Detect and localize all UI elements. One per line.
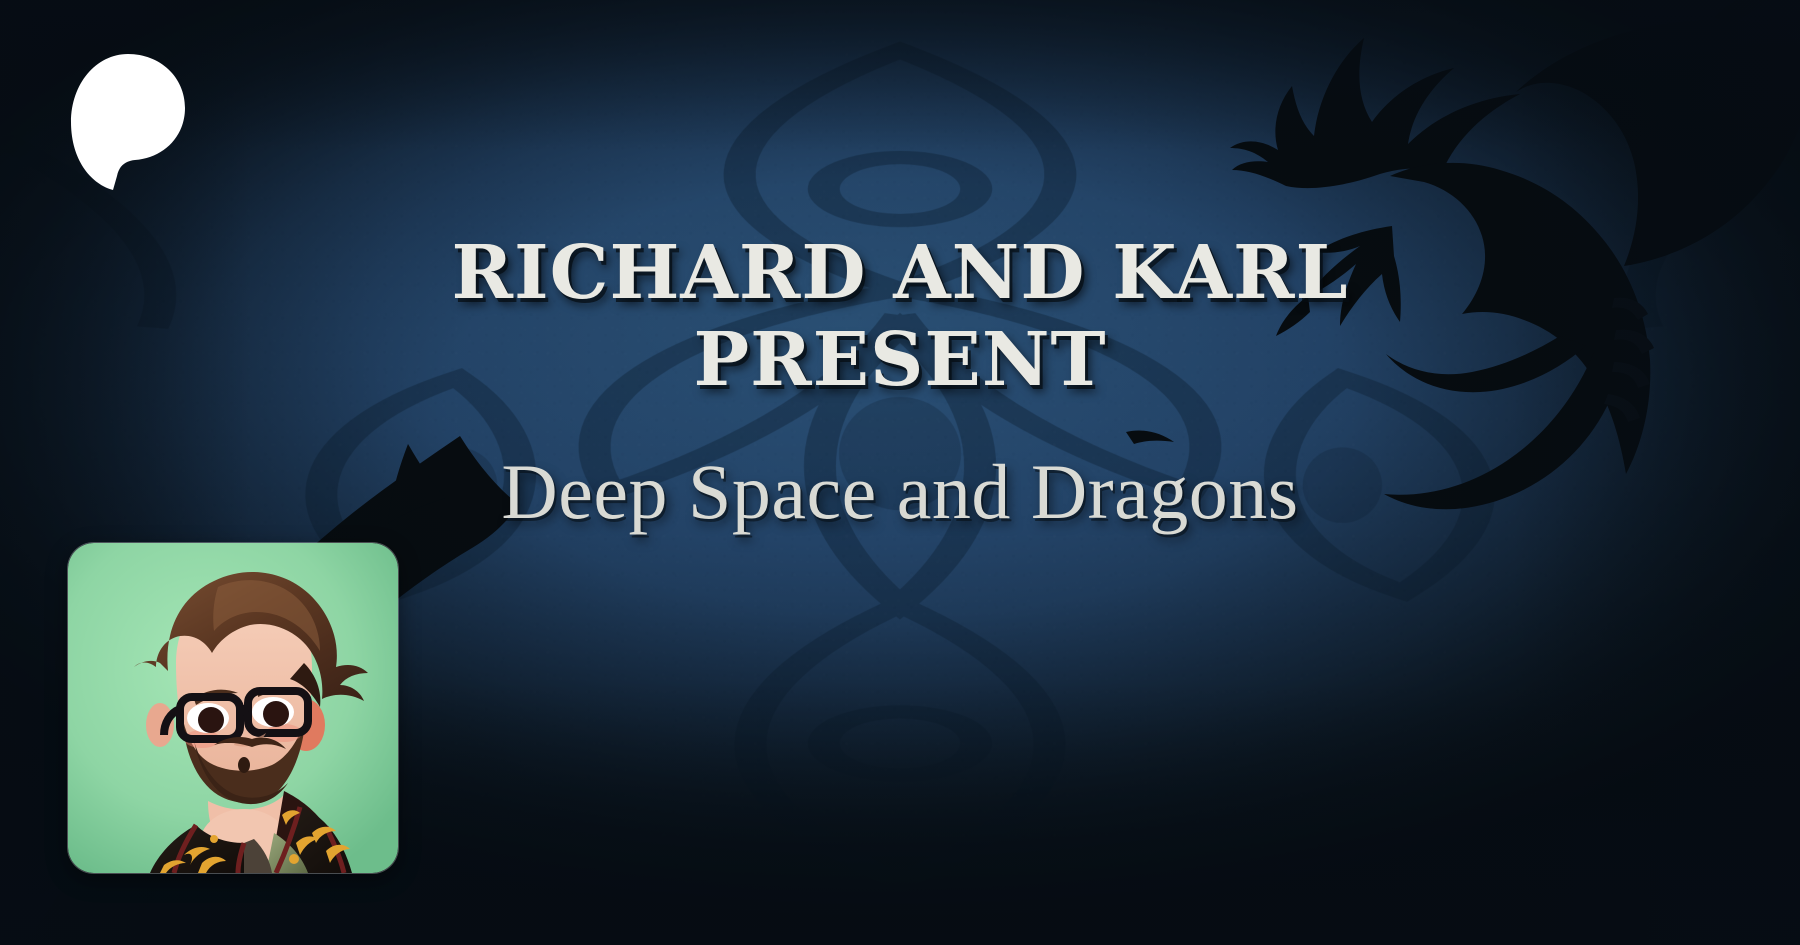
patreon-banner-page: RICHARD AND KARL PRESENT Deep Space and … xyxy=(0,0,1800,945)
creator-avatar[interactable] xyxy=(68,543,398,873)
patreon-logo-icon[interactable] xyxy=(67,50,187,190)
